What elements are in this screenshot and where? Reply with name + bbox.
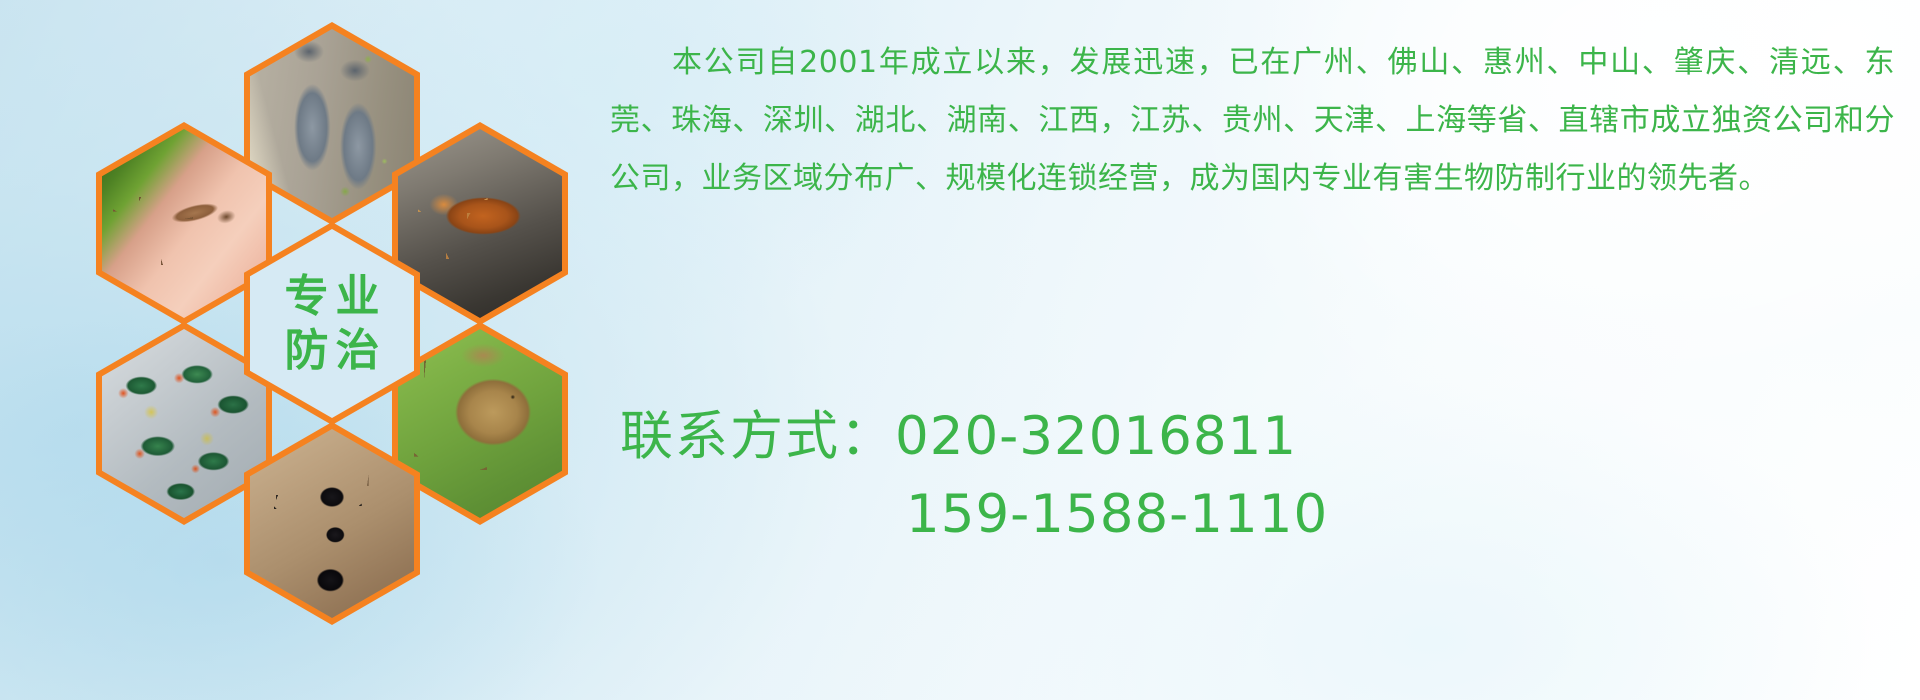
flies-photo-icon (102, 329, 266, 518)
ant-photo-icon (250, 429, 414, 618)
contact-line-primary: 联系方式：020-32016811 (620, 398, 1910, 476)
pest-control-banner: 专业 防治 本公司自2001年成立以来，发展迅速，已在广州、佛山、惠州、中山、肇… (0, 0, 1920, 700)
stink-bug-photo-icon (398, 329, 562, 518)
rats-photo-icon (250, 29, 414, 218)
contact-block: 联系方式：020-32016811 159-1588-1110 (620, 398, 1910, 554)
about-paragraph: 本公司自2001年成立以来，发展迅速，已在广州、佛山、惠州、中山、肇庆、清远、东… (610, 34, 1895, 208)
hexagon-photo-cluster: 专业 防治 (88, 8, 588, 568)
logo-slogan-line-1: 专业 (278, 270, 387, 324)
contact-label: 联系方式： (620, 406, 895, 467)
contact-line-secondary: 159-1588-1110 (620, 476, 1910, 554)
mosquito-photo-icon (102, 129, 266, 318)
cockroach-photo-icon (398, 129, 562, 318)
logo-slogan-line-2: 防治 (278, 324, 387, 378)
company-copy: 本公司自2001年成立以来，发展迅速，已在广州、佛山、惠州、中山、肇庆、清远、东… (610, 34, 1900, 208)
phone-primary[interactable]: 020-32016811 (895, 406, 1297, 467)
logo-slogan: 专业 防治 (278, 270, 387, 377)
phone-secondary[interactable]: 159-1588-1110 (906, 484, 1328, 545)
